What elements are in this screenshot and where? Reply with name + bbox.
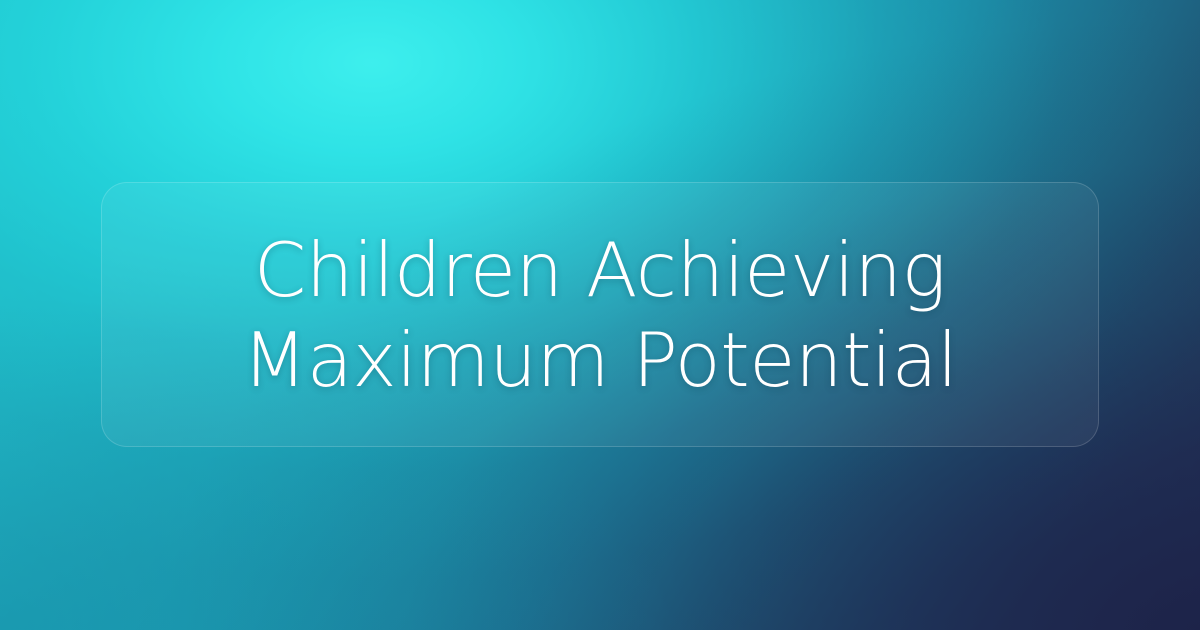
title-line-1: Children Achieving	[136, 225, 1064, 315]
og-banner: Children Achieving Maximum Potential	[0, 0, 1200, 630]
page-title: Children Achieving Maximum Potential	[102, 225, 1098, 405]
title-card: Children Achieving Maximum Potential	[101, 182, 1099, 447]
title-line-2: Maximum Potential	[136, 315, 1064, 405]
